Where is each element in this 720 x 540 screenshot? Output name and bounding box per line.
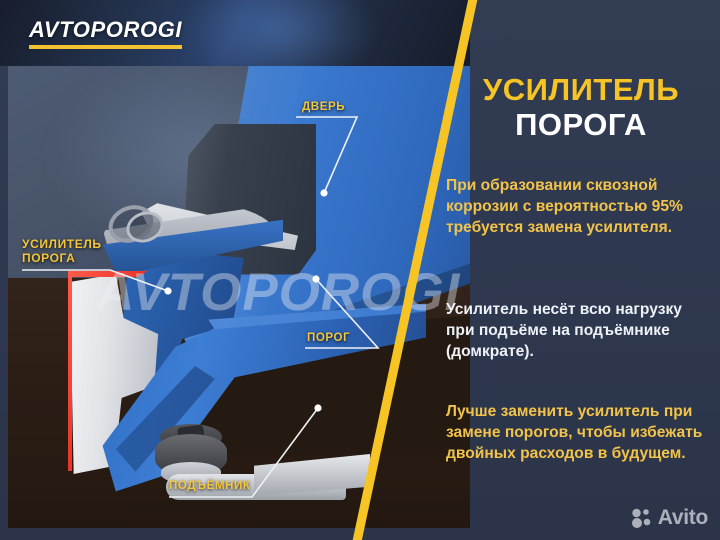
callout-label-reinforcement: УСИЛИТЕЛЬ ПОРОГА <box>22 238 112 266</box>
callout-label-lift-text: ПОДЪЁМНИК <box>169 480 253 493</box>
page-title-line1: УСИЛИТЕЛЬ <box>442 74 720 107</box>
info-paragraph-2: Усилитель несёт всю нагрузку при подъёме… <box>446 300 714 363</box>
brand-logo-text: AVTOPOROGI <box>29 19 182 41</box>
illustration-panel <box>8 66 470 528</box>
corrosion-highlight-top <box>68 271 148 277</box>
info-column: УСИЛИТЕЛЬ ПОРОГА При образовании сквозно… <box>442 0 720 540</box>
avito-wordmark: Avito <box>658 506 708 530</box>
info-paragraph-1: При образовании сквозной коррозии с веро… <box>446 176 714 239</box>
brand-logo[interactable]: AVTOPOROGI <box>29 19 182 49</box>
avito-dots-icon <box>631 508 653 528</box>
info-paragraph-3: Лучше заменить усилитель при замене поро… <box>446 402 714 465</box>
callout-label-lift: ПОДЪЁМНИК <box>169 480 253 493</box>
page-title-line2: ПОРОГА <box>442 109 720 142</box>
callout-label-reinforcement-line1: УСИЛИТЕЛЬ <box>22 238 112 252</box>
corrosion-highlight-line <box>68 271 72 471</box>
callout-label-reinforcement-line2: ПОРОГА <box>22 252 112 266</box>
callout-label-sill-text: ПОРОГ <box>307 332 355 345</box>
callout-label-door: ДВЕРЬ <box>302 101 354 114</box>
brand-logo-underline <box>29 45 182 49</box>
callout-label-door-text: ДВЕРЬ <box>302 101 354 114</box>
page-title: УСИЛИТЕЛЬ ПОРОГА <box>442 74 720 141</box>
avito-watermark: Avito <box>631 506 708 530</box>
ad-banner: AVTOPOROGI ДВЕРЬ УСИЛИТЕЛЬ ПОРОГА ПОРОГ … <box>0 0 720 540</box>
callout-label-sill: ПОРОГ <box>307 332 355 345</box>
